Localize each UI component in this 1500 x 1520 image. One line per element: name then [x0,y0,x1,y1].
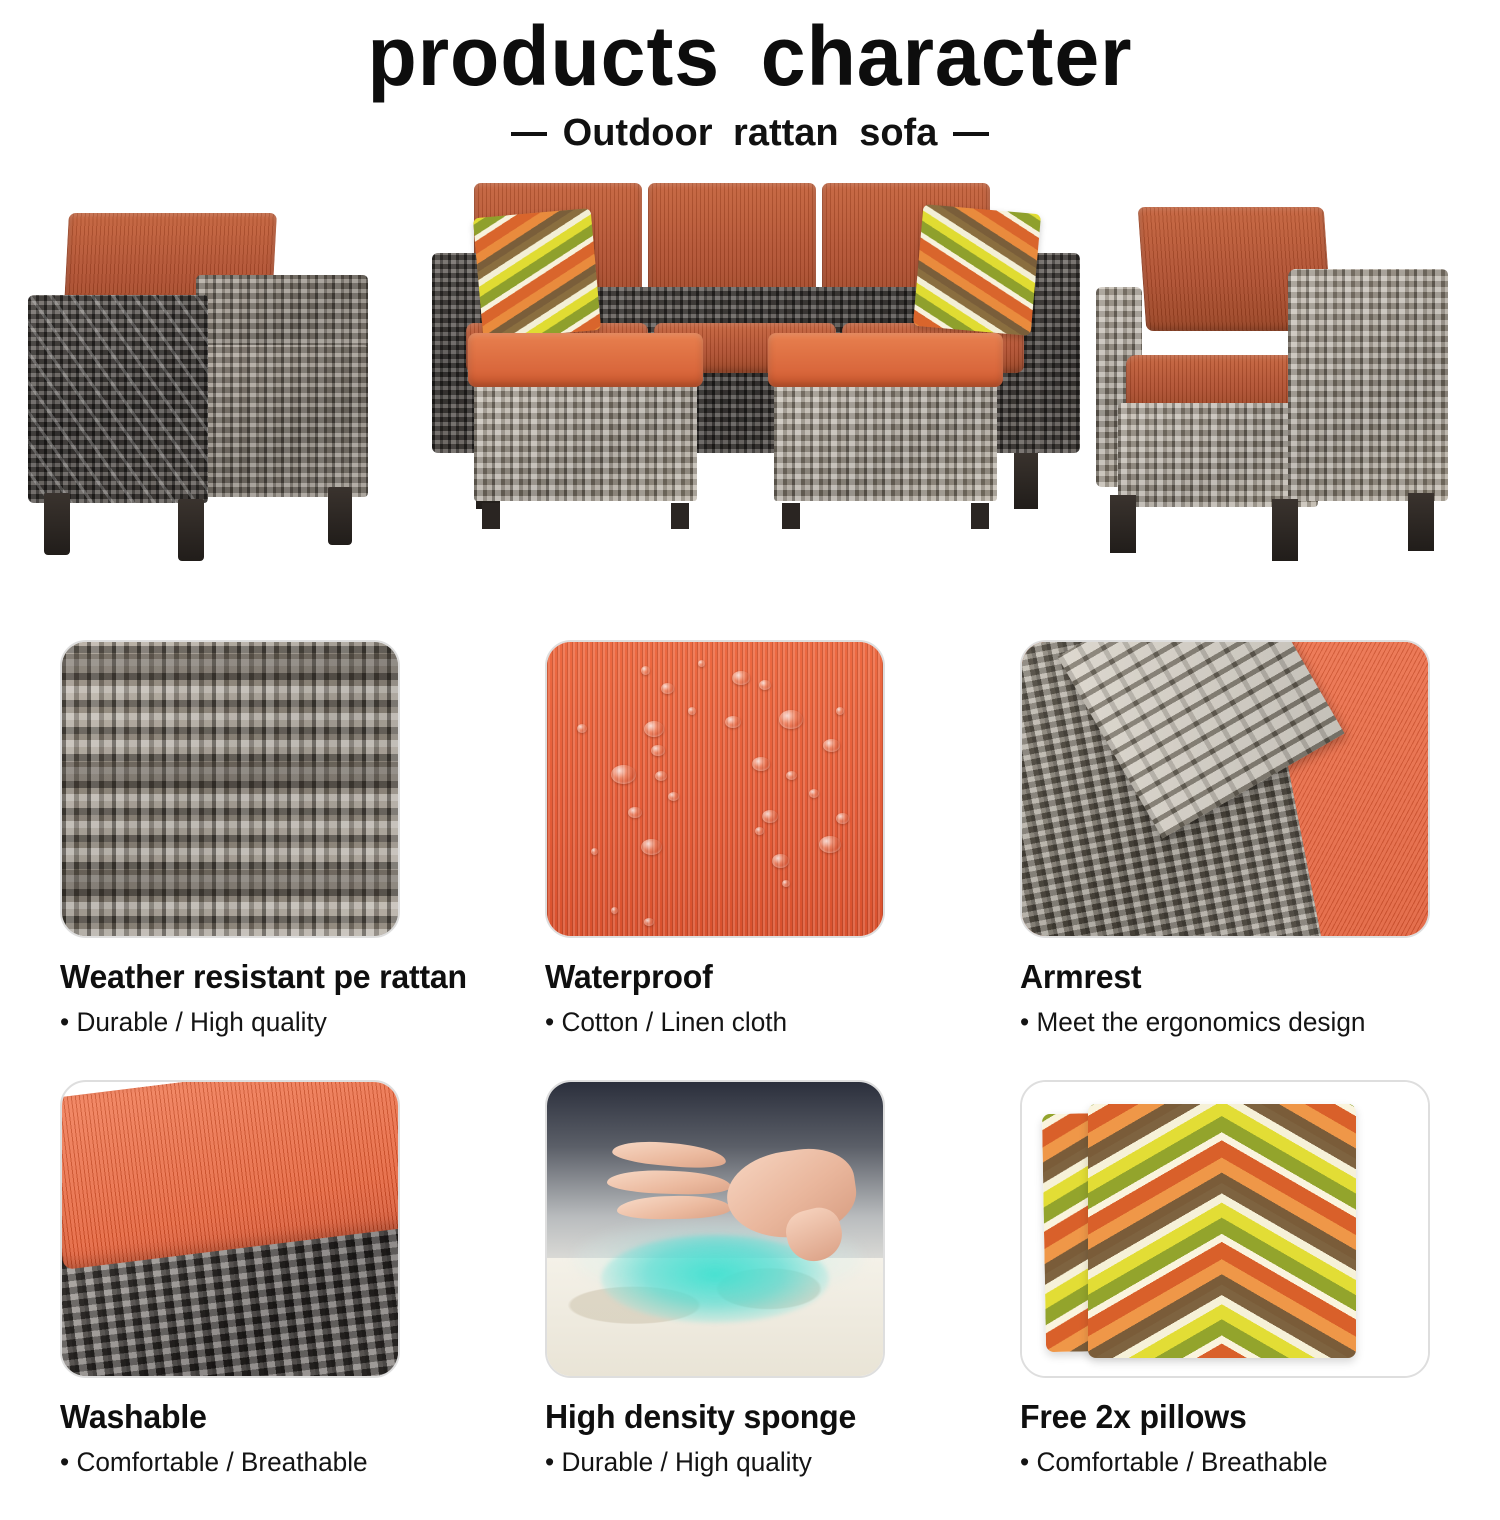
feature-image-two-chevron-throw-pillows [1020,1080,1430,1378]
infographic-header: products character Outdoor rattan sofa [0,0,1500,155]
water-droplet-icon [591,848,598,855]
finger [617,1195,732,1220]
feature-bullet: • Comfortable / Breathable [60,1447,467,1478]
throw-pillow [1088,1104,1356,1358]
feature-card-high-density-sponge: High density sponge • Durable / High qua… [545,1080,965,1478]
water-droplet-icon [668,792,679,801]
ottoman-left [468,333,703,529]
feature-image-hand-pressing-memory-foam [545,1080,885,1378]
feature-image-orange-cushion-on-rattan-base [60,1080,400,1378]
water-droplet-icon [762,810,778,823]
throw-pillow [913,204,1041,336]
water-droplet-icon [752,757,770,771]
right-armchair [1096,207,1448,563]
furniture-leg [44,493,70,555]
armrest-photo [1022,642,1428,936]
water-droplet-icon [641,666,650,675]
feature-grid: Weather resistant pe rattan • Durable / … [0,640,1500,1520]
ottoman-cushion [468,333,703,387]
hero-product-image [0,165,1500,565]
water-droplet-icon [628,807,642,818]
chevron-pattern [1222,1104,1356,1358]
furniture-leg [328,487,352,545]
page-subtitle-row: Outdoor rattan sofa [0,112,1500,155]
water-droplet-icon [779,710,803,729]
feature-image-woven-armrest-corner [1020,640,1430,938]
armchair-side-frame [196,345,368,497]
sponge-photo [547,1082,883,1376]
ottoman-frame [774,383,997,501]
water-droplet-icon [809,789,819,798]
feature-image-rattan-weave-closeup [60,640,400,938]
chevron-half [1088,1104,1222,1358]
armchair-back-frame [196,275,368,353]
feature-row: Weather resistant pe rattan • Durable / … [0,640,1500,1080]
ottoman-frame [474,383,697,501]
feature-title: Armrest [1020,958,1447,996]
furniture-leg [1272,499,1298,561]
pillows-photo [1022,1082,1428,1376]
feature-card-free-2x-pillows: Free 2x pillows • Comfortable / Breathab… [1020,1080,1460,1478]
water-droplet-icon [786,771,797,780]
fabric-texture-icon [547,642,883,936]
water-droplet-icon [651,745,665,756]
feature-title: High density sponge [545,1398,952,1436]
water-droplet-icon [836,707,844,715]
dash-left-icon [511,132,547,136]
furniture-leg [671,503,689,529]
chevron-pattern [1088,1104,1222,1358]
water-droplet-icon [655,771,667,781]
water-droplet-icon [823,739,840,752]
feature-row: Washable • Comfortable / Breathable [0,1080,1500,1520]
feature-bullet: • Meet the ergonomics design [1020,1007,1447,1038]
feature-card-weather-resistant-pe-rattan: Weather resistant pe rattan • Durable / … [60,640,480,1038]
furniture-leg [178,499,204,561]
feature-bullet: • Durable / High quality [545,1447,952,1478]
water-droplet-icon [759,680,771,690]
hand-icon [607,1111,856,1264]
furniture-leg [782,503,800,529]
feature-card-waterproof: Waterproof • Cotton / Linen cloth [545,640,965,1038]
chevron-pattern [473,208,601,340]
feature-image-orange-fabric-water-droplets [545,640,885,938]
feature-card-armrest: Armrest • Meet the ergonomics design [1020,640,1460,1038]
dash-right-icon [953,132,989,136]
feature-title: Washable [60,1398,467,1436]
rattan-weave-icon [62,642,398,936]
page-title: products character [30,14,1470,98]
water-droplet-icon [611,907,618,914]
washable-photo [62,1082,398,1376]
furniture-leg [1014,451,1038,509]
ottoman-right [768,333,1003,529]
feature-bullet: • Cotton / Linen cloth [545,1007,952,1038]
armchair-arm-panel [1288,269,1448,501]
ottoman-cushion [768,333,1003,387]
furniture-leg [1110,495,1136,553]
feature-bullet: • Durable / High quality [60,1007,467,1038]
water-droplet-icon [725,716,741,728]
water-droplet-icon [688,707,696,715]
furniture-leg [482,503,500,529]
page-subtitle: Outdoor rattan sofa [563,112,938,155]
water-droplet-icon [698,660,705,667]
water-droplet-icon [641,839,662,855]
feature-card-washable: Washable • Comfortable / Breathable [60,1080,480,1478]
chevron-pattern [913,204,1041,336]
throw-pillow [473,208,601,340]
chevron-half [1222,1104,1356,1358]
water-droplet-icon [772,854,789,868]
feature-title: Free 2x pillows [1020,1398,1447,1436]
armchair-arm-panel [28,295,208,503]
water-droplet-icon [836,813,849,824]
feature-title: Weather resistant pe rattan [60,958,467,996]
finger [612,1138,728,1171]
furniture-leg [971,503,989,529]
finger [607,1168,732,1195]
feature-bullet: • Comfortable / Breathable [1020,1447,1447,1478]
feature-title: Waterproof [545,958,952,996]
furniture-leg [1408,493,1434,551]
left-armchair [28,213,368,563]
